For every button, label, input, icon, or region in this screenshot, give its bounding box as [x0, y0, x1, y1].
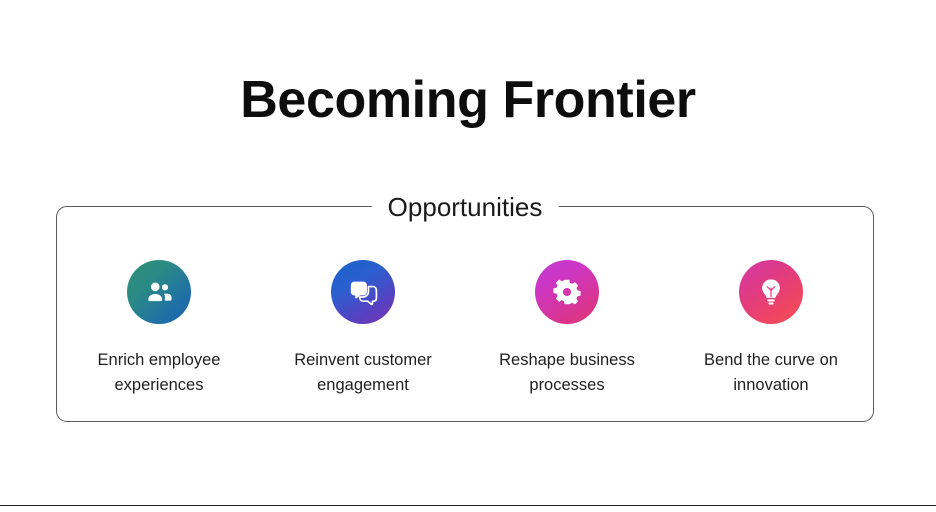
- opportunity-item-reinvent-customer-engagement[interactable]: Reinvent customer engagement: [265, 260, 461, 398]
- footer-divider: [0, 505, 936, 506]
- gear-icon: [553, 278, 581, 306]
- opportunity-item-bend-the-curve-on-innovation[interactable]: Bend the curve on innovation: [673, 260, 869, 398]
- caption-line-2: innovation: [733, 376, 808, 394]
- opportunity-item-enrich-employee-experiences[interactable]: Enrich employee experiences: [61, 260, 257, 398]
- caption-line-2: processes: [529, 376, 604, 394]
- opportunity-items-row: Enrich employee experiences Reinvent cus…: [57, 260, 873, 398]
- icon-badge-people[interactable]: [127, 260, 191, 324]
- group-box-legend: Opportunities: [372, 191, 559, 223]
- page-title: Becoming Frontier: [0, 72, 936, 129]
- opportunities-group-box: Opportunities Enrich employee: [56, 206, 874, 422]
- icon-badge-lightbulb[interactable]: [739, 260, 803, 324]
- lightbulb-icon: [757, 278, 785, 306]
- caption-line-1: Reshape business: [499, 351, 635, 369]
- caption-line-1: Bend the curve on: [704, 351, 838, 369]
- chat-bubbles-icon: [348, 277, 378, 307]
- caption-line-1: Enrich employee: [98, 351, 221, 369]
- slide-canvas: Becoming Frontier Opportunities: [0, 0, 936, 512]
- icon-badge-chat[interactable]: [331, 260, 395, 324]
- opportunity-item-caption: Reshape business processes: [469, 348, 665, 398]
- opportunity-item-reshape-business-processes[interactable]: Reshape business processes: [469, 260, 665, 398]
- opportunity-item-caption: Reinvent customer engagement: [265, 348, 461, 398]
- icon-badge-gear[interactable]: [535, 260, 599, 324]
- caption-line-2: engagement: [317, 376, 409, 394]
- caption-line-1: Reinvent customer: [294, 351, 432, 369]
- opportunity-item-caption: Bend the curve on innovation: [673, 348, 869, 398]
- opportunity-item-caption: Enrich employee experiences: [61, 348, 257, 398]
- people-group-icon: [144, 277, 174, 307]
- caption-line-2: experiences: [115, 376, 204, 394]
